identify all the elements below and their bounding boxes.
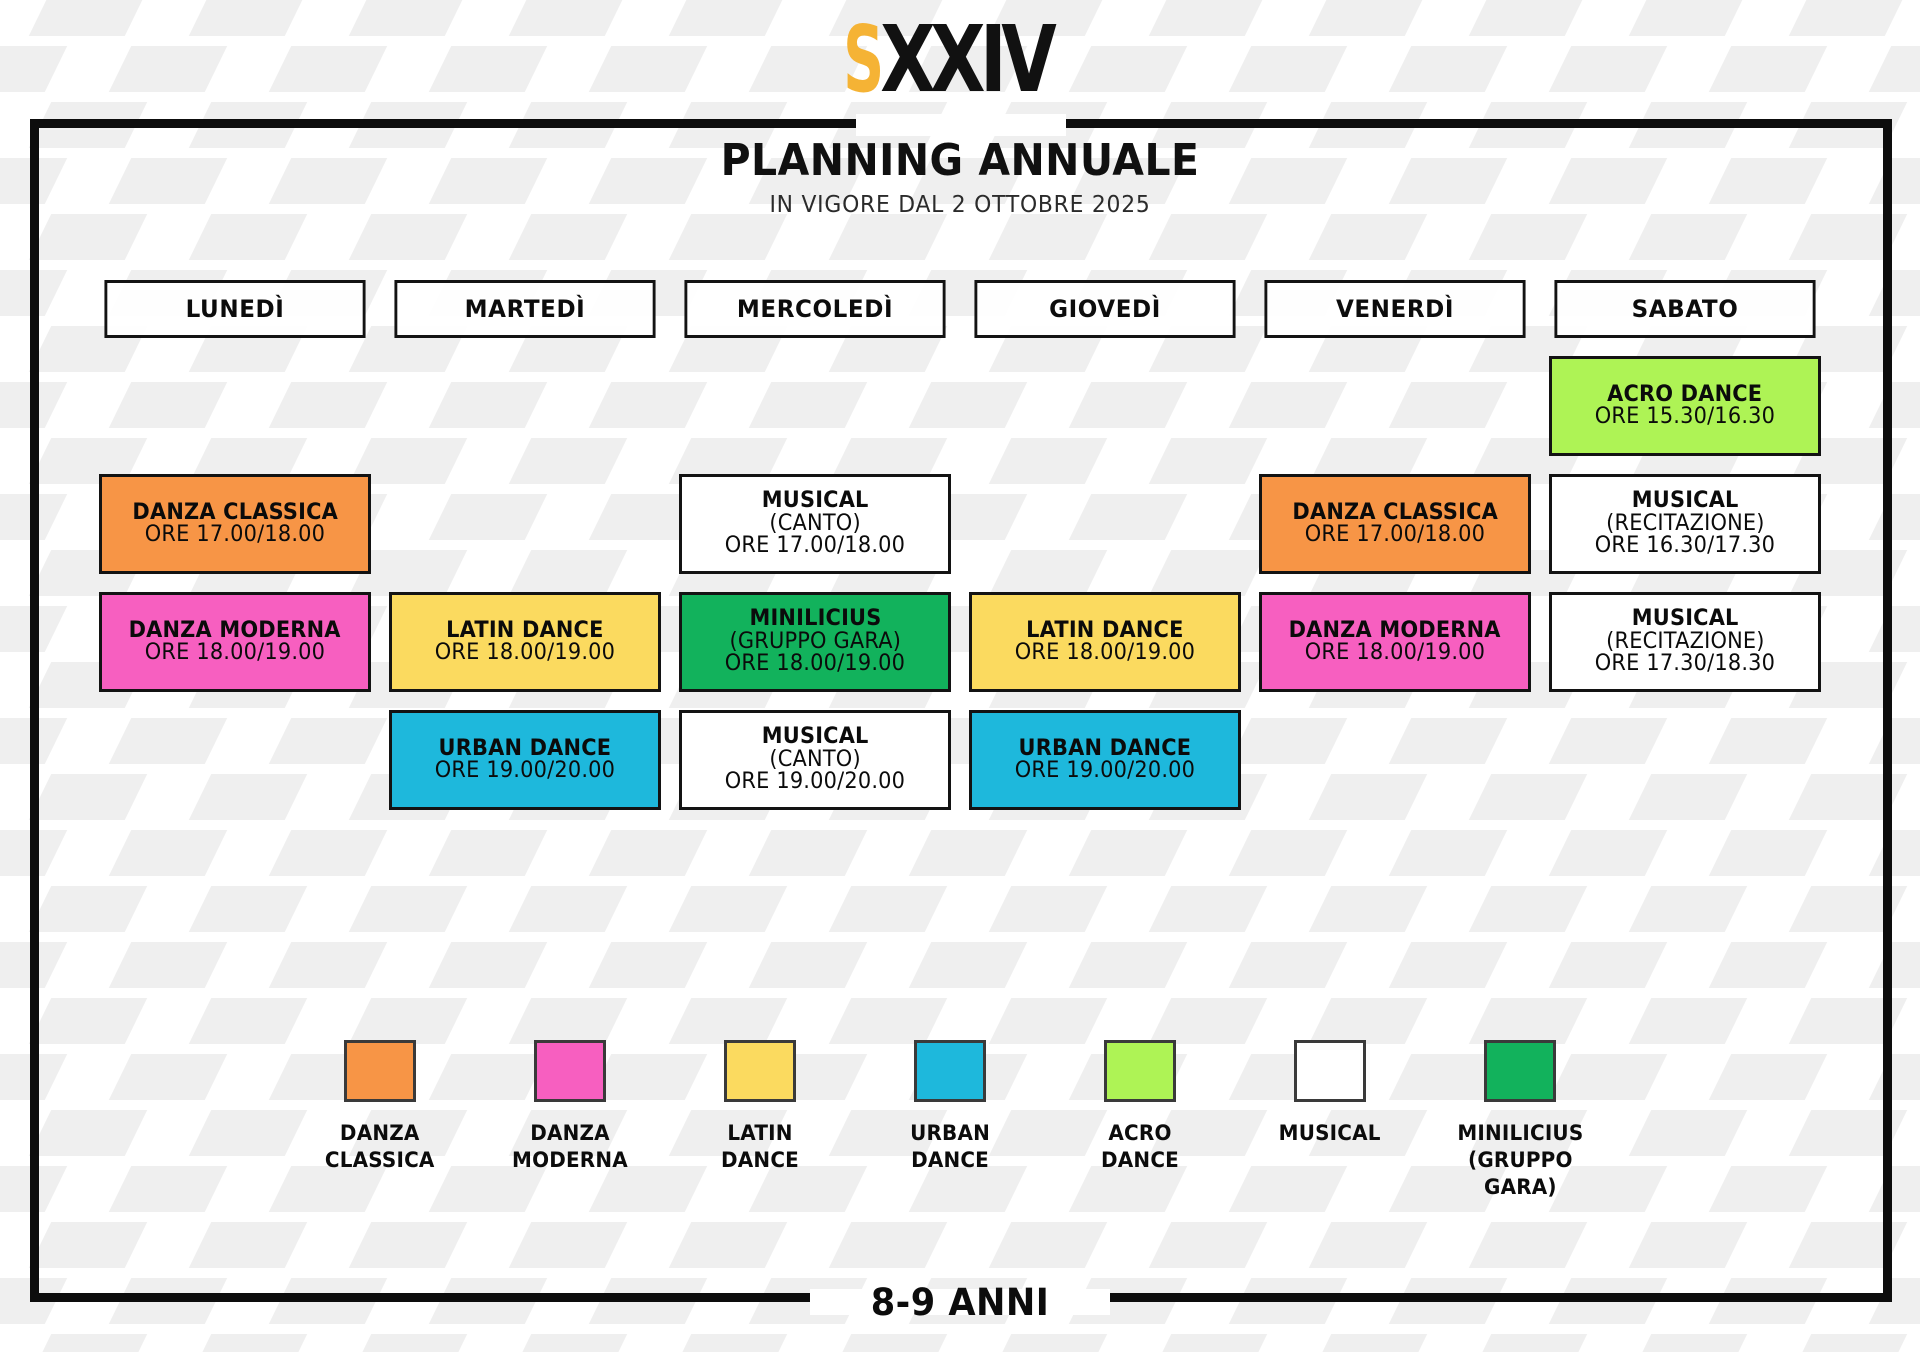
slot-title: MUSICAL [762, 490, 869, 512]
slot-title: DANZA CLASSICA [132, 502, 338, 524]
legend-label: DANZAMODERNA [512, 1120, 628, 1174]
schedule-slot-danza_classica[interactable]: DANZA CLASSICAORE 17.00/18.00 [99, 474, 371, 574]
slot-time: ORE 18.00/19.00 [725, 653, 905, 675]
legend-item-urban_dance: URBANDANCE [870, 1040, 1030, 1201]
slot-title: DANZA MODERNA [1289, 620, 1501, 642]
schedule-slot-empty [969, 356, 1241, 456]
day-header-lunedi: LUNEDÌ [104, 280, 365, 338]
slot-time: ORE 17.00/18.00 [145, 524, 325, 546]
age-group-label: 8-9 ANNI [859, 1281, 1060, 1324]
slot-title: MUSICAL [1632, 608, 1739, 630]
day-header-mercoledi: MERCOLEDÌ [684, 280, 945, 338]
slot-title: MUSICAL [1632, 490, 1739, 512]
slot-title: DANZA MODERNA [129, 620, 341, 642]
legend-swatch-latin_dance [724, 1040, 796, 1102]
day-header-venerdi: VENERDÌ [1264, 280, 1525, 338]
day-column-venerdi: VENERDÌDANZA CLASSICAORE 17.00/18.00DANZ… [1259, 280, 1531, 810]
slot-time: ORE 16.30/17.30 [1595, 535, 1775, 557]
schedule-slot-empty [389, 356, 661, 456]
slot-time: ORE 15.30/16.30 [1595, 406, 1775, 428]
page-title: PLANNING ANNUALE [67, 135, 1853, 186]
legend-item-minilicius: MINILICIUS(GRUPPOGARA) [1440, 1040, 1600, 1201]
legend-swatch-acro_dance [1104, 1040, 1176, 1102]
footer-band: 8-9 ANNI [30, 1275, 1890, 1329]
schedule-slot-empty [1259, 710, 1531, 810]
day-column-lunedi: LUNEDÌDANZA CLASSICAORE 17.00/18.00DANZA… [99, 280, 371, 810]
legend: DANZACLASSICADANZAMODERNALATINDANCEURBAN… [300, 1040, 1620, 1201]
slot-subtitle: (GRUPPO GARA) [729, 631, 901, 653]
brand-logo: S XXIV [810, 18, 1110, 103]
legend-label: MUSICAL [1279, 1120, 1381, 1147]
day-header-sabato: SABATO [1554, 280, 1815, 338]
schedule-slot-latin_dance[interactable]: LATIN DANCEORE 18.00/19.00 [969, 592, 1241, 692]
day-header-giovedi: GIOVEDÌ [974, 280, 1235, 338]
slot-subtitle: (RECITAZIONE) [1606, 631, 1764, 653]
slot-time: ORE 19.00/20.00 [725, 771, 905, 793]
schedule-slot-latin_dance[interactable]: LATIN DANCEORE 18.00/19.00 [389, 592, 661, 692]
slot-title: LATIN DANCE [1026, 620, 1183, 642]
legend-item-latin_dance: LATINDANCE [680, 1040, 840, 1201]
slot-title: MUSICAL [762, 726, 869, 748]
schedule-slot-danza_classica[interactable]: DANZA CLASSICAORE 17.00/18.00 [1259, 474, 1531, 574]
schedule-slot-empty [969, 474, 1241, 574]
schedule-slot-empty [99, 356, 371, 456]
slot-time: ORE 18.00/19.00 [435, 642, 615, 664]
schedule-grid: LUNEDÌDANZA CLASSICAORE 17.00/18.00DANZA… [99, 280, 1821, 810]
legend-swatch-danza_moderna [534, 1040, 606, 1102]
day-header-martedi: MARTEDÌ [394, 280, 655, 338]
slot-time: ORE 18.00/19.00 [1305, 642, 1485, 664]
schedule-slot-empty [389, 474, 661, 574]
day-column-giovedi: GIOVEDÌLATIN DANCEORE 18.00/19.00URBAN D… [969, 280, 1241, 810]
legend-swatch-danza_classica [344, 1040, 416, 1102]
legend-label: MINILICIUS(GRUPPOGARA) [1457, 1120, 1583, 1201]
schedule-slot-empty [99, 710, 371, 810]
slot-title: MINILICIUS [749, 608, 881, 630]
day-column-sabato: SABATOACRO DANCEORE 15.30/16.30MUSICAL(R… [1549, 280, 1821, 810]
legend-item-danza_moderna: DANZAMODERNA [490, 1040, 650, 1201]
legend-item-musical: MUSICAL [1250, 1040, 1410, 1201]
schedule-slot-musical[interactable]: MUSICAL(CANTO)ORE 17.00/18.00 [679, 474, 951, 574]
schedule-slot-acro_dance[interactable]: ACRO DANCEORE 15.30/16.30 [1549, 356, 1821, 456]
schedule-slot-musical[interactable]: MUSICAL(RECITAZIONE)ORE 16.30/17.30 [1549, 474, 1821, 574]
slot-time: ORE 19.00/20.00 [435, 760, 615, 782]
slot-subtitle: (CANTO) [769, 749, 860, 771]
slot-time: ORE 17.30/18.30 [1595, 653, 1775, 675]
logo-roman-numeral: XXIV [880, 18, 1051, 103]
legend-swatch-minilicius [1484, 1040, 1556, 1102]
legend-item-acro_dance: ACRODANCE [1060, 1040, 1220, 1201]
logo-accent-letter: S [843, 18, 880, 103]
day-column-martedi: MARTEDÌLATIN DANCEORE 18.00/19.00URBAN D… [389, 280, 661, 810]
legend-swatch-urban_dance [914, 1040, 986, 1102]
schedule-slot-empty [679, 356, 951, 456]
slot-time: ORE 17.00/18.00 [725, 535, 905, 557]
slot-title: URBAN DANCE [439, 738, 612, 760]
schedule-slot-urban_dance[interactable]: URBAN DANCEORE 19.00/20.00 [969, 710, 1241, 810]
schedule-slot-danza_moderna[interactable]: DANZA MODERNAORE 18.00/19.00 [99, 592, 371, 692]
page-subtitle: IN VIGORE DAL 2 OTTOBRE 2025 [48, 192, 1872, 218]
legend-swatch-musical [1294, 1040, 1366, 1102]
schedule-slot-empty [1549, 710, 1821, 810]
slot-title: LATIN DANCE [446, 620, 603, 642]
schedule-slot-danza_moderna[interactable]: DANZA MODERNAORE 18.00/19.00 [1259, 592, 1531, 692]
schedule-slot-empty [1259, 356, 1531, 456]
logo-band: S XXIV [0, 0, 1920, 122]
slot-subtitle: (CANTO) [769, 513, 860, 535]
legend-label: DANZACLASSICA [325, 1120, 435, 1174]
schedule-slot-urban_dance[interactable]: URBAN DANCEORE 19.00/20.00 [389, 710, 661, 810]
title-block: PLANNING ANNUALE IN VIGORE DAL 2 OTTOBRE… [0, 135, 1920, 218]
legend-label: ACRODANCE [1101, 1120, 1179, 1174]
slot-title: URBAN DANCE [1019, 738, 1192, 760]
slot-time: ORE 17.00/18.00 [1305, 524, 1485, 546]
slot-title: DANZA CLASSICA [1292, 502, 1498, 524]
legend-item-danza_classica: DANZACLASSICA [300, 1040, 460, 1201]
schedule-slot-musical[interactable]: MUSICAL(RECITAZIONE)ORE 17.30/18.30 [1549, 592, 1821, 692]
legend-label: LATINDANCE [721, 1120, 799, 1174]
legend-label: URBANDANCE [910, 1120, 990, 1174]
slot-time: ORE 19.00/20.00 [1015, 760, 1195, 782]
day-column-mercoledi: MERCOLEDÌMUSICAL(CANTO)ORE 17.00/18.00MI… [679, 280, 951, 810]
slot-time: ORE 18.00/19.00 [1015, 642, 1195, 664]
schedule-slot-minilicius[interactable]: MINILICIUS(GRUPPO GARA)ORE 18.00/19.00 [679, 592, 951, 692]
slot-time: ORE 18.00/19.00 [145, 642, 325, 664]
slot-subtitle: (RECITAZIONE) [1606, 513, 1764, 535]
schedule-slot-musical[interactable]: MUSICAL(CANTO)ORE 19.00/20.00 [679, 710, 951, 810]
slot-title: ACRO DANCE [1607, 384, 1762, 406]
